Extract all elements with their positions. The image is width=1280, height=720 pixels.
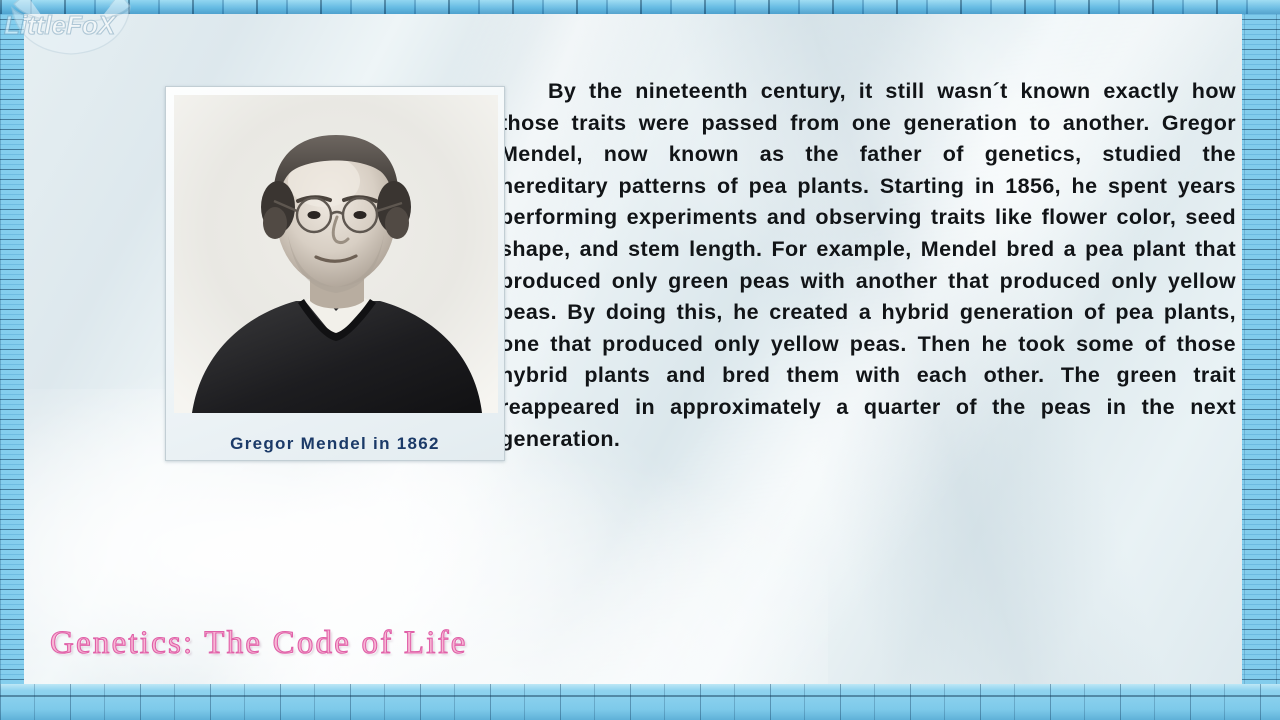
border-top-strip [0, 0, 1280, 14]
border-bottom-strip [0, 684, 1280, 720]
episode-title: Genetics: The Code of Life [50, 625, 468, 662]
slide-content-area: Gregor Mendel in 1862 By the nineteenth … [24, 14, 1242, 684]
figure-portrait-card: Gregor Mendel in 1862 [165, 86, 505, 461]
narration-paragraph: By the nineteenth century, it still wasn… [500, 79, 1236, 451]
portrait-photo [174, 95, 498, 413]
figure-caption: Gregor Mendel in 1862 [166, 434, 504, 454]
